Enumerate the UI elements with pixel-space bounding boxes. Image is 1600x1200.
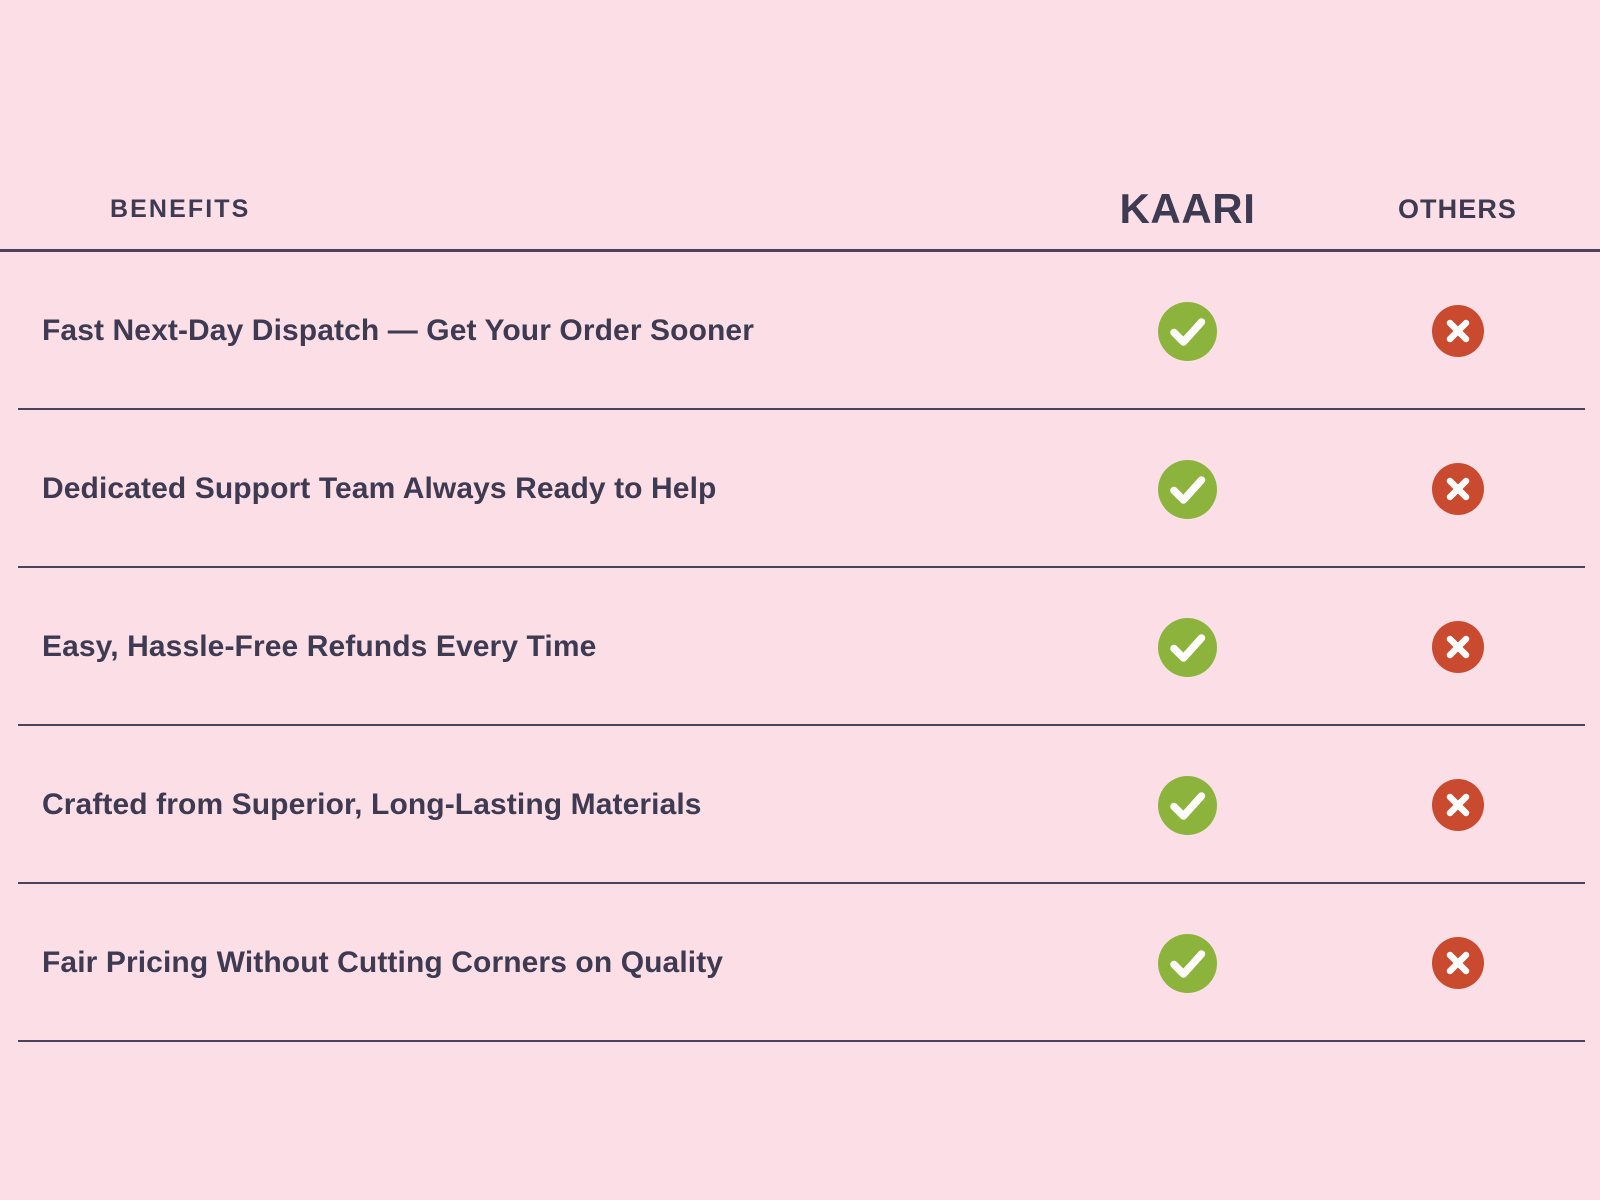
comparison-table-page: BENEFITS KAARI OTHERS Fast Next-Day Disp… [0, 0, 1600, 1200]
benefit-label: Fair Pricing Without Cutting Corners on … [0, 946, 1060, 981]
table-body: Fast Next-Day Dispatch — Get Your Order … [0, 252, 1600, 1042]
header-cell-others: OTHERS [1315, 196, 1600, 223]
others-status-cell [1315, 305, 1600, 357]
check-circle-icon [1158, 934, 1217, 993]
row-divider [18, 1040, 1585, 1042]
benefit-label: Crafted from Superior, Long-Lasting Mate… [0, 788, 1060, 823]
kaari-status-cell [1060, 776, 1315, 835]
cross-circle-icon [1432, 463, 1484, 515]
table-row: Fast Next-Day Dispatch — Get Your Order … [0, 252, 1600, 410]
header-cell-benefits: BENEFITS [0, 197, 1060, 222]
kaari-status-cell [1060, 934, 1315, 993]
check-circle-icon [1158, 460, 1217, 519]
benefit-label: Easy, Hassle-Free Refunds Every Time [0, 630, 1060, 665]
others-status-cell [1315, 621, 1600, 673]
check-circle-icon [1158, 776, 1217, 835]
table-header-row: BENEFITS KAARI OTHERS [0, 168, 1600, 250]
table-row: Fair Pricing Without Cutting Corners on … [0, 884, 1600, 1042]
cross-circle-icon [1432, 621, 1484, 673]
benefit-label: Dedicated Support Team Always Ready to H… [0, 472, 1060, 507]
kaari-status-cell [1060, 618, 1315, 677]
check-circle-icon [1158, 302, 1217, 361]
others-status-cell [1315, 937, 1600, 989]
table-row: Crafted from Superior, Long-Lasting Mate… [0, 726, 1600, 884]
table-row: Dedicated Support Team Always Ready to H… [0, 410, 1600, 568]
table-row: Easy, Hassle-Free Refunds Every Time [0, 568, 1600, 726]
header-label-benefits: BENEFITS [110, 195, 250, 223]
check-circle-icon [1158, 618, 1217, 677]
kaari-status-cell [1060, 460, 1315, 519]
header-cell-kaari: KAARI [1060, 188, 1315, 230]
kaari-status-cell [1060, 302, 1315, 361]
header-label-kaari: KAARI [1120, 185, 1256, 232]
header-label-others: OTHERS [1398, 194, 1517, 224]
others-status-cell [1315, 779, 1600, 831]
others-status-cell [1315, 463, 1600, 515]
cross-circle-icon [1432, 305, 1484, 357]
cross-circle-icon [1432, 937, 1484, 989]
cross-circle-icon [1432, 779, 1484, 831]
benefit-label: Fast Next-Day Dispatch — Get Your Order … [0, 314, 1060, 349]
